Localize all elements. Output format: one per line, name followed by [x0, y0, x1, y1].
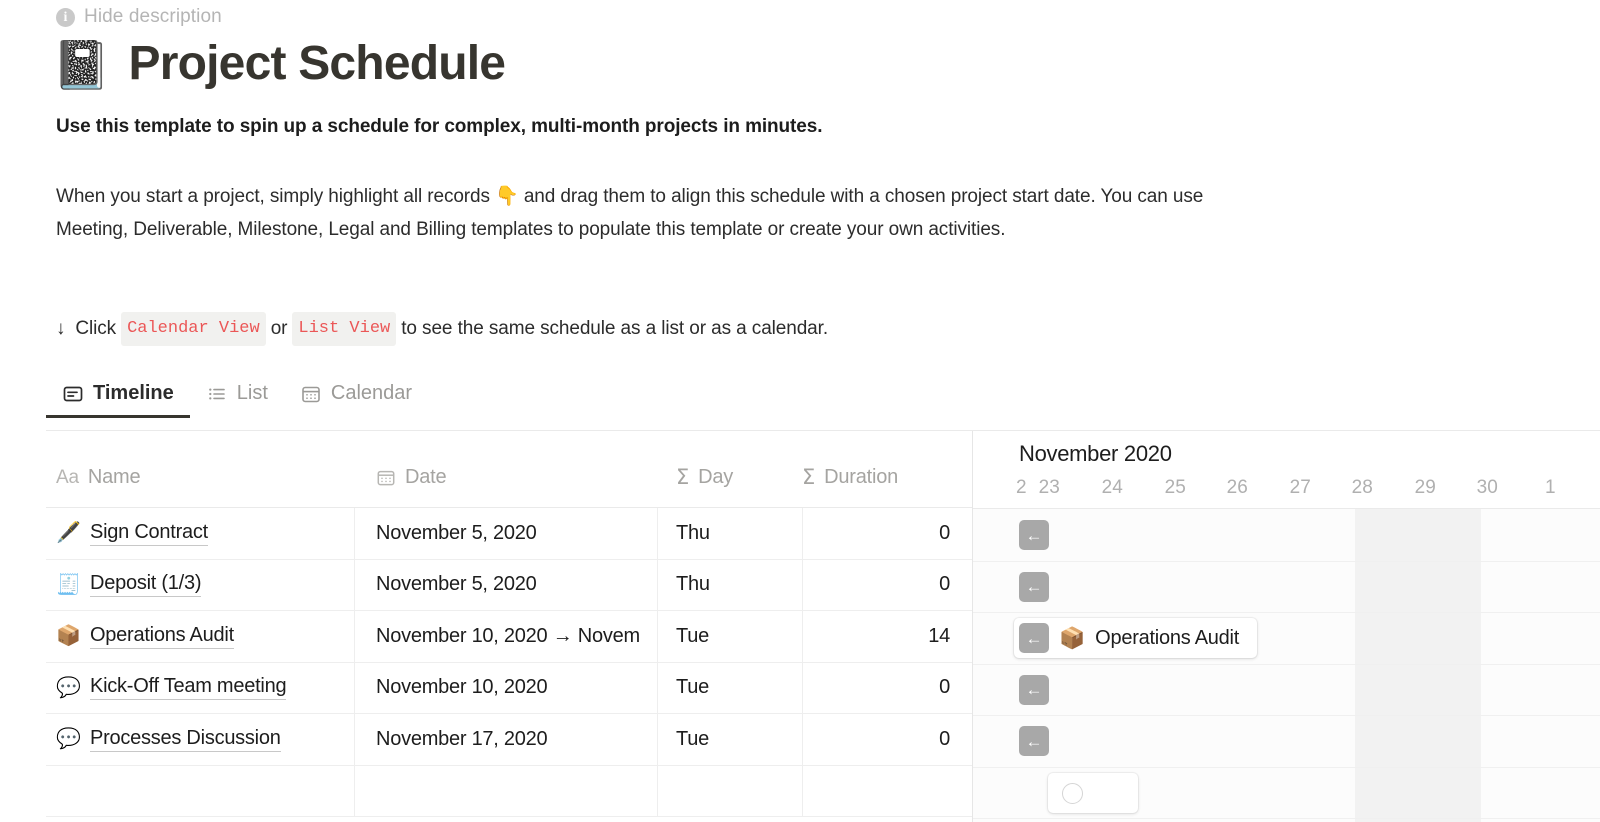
cell-duration-value: 0: [939, 573, 950, 596]
table-pane: Aa Name: [46, 431, 972, 822]
timeline-day-tick: 25: [1144, 477, 1207, 508]
cell-day[interactable]: Tue: [658, 663, 802, 714]
tab-calendar[interactable]: Calendar: [284, 382, 428, 418]
cell-date[interactable]: November 5, 2020: [355, 508, 658, 559]
row-name-link[interactable]: Kick-Off Team meeting: [90, 675, 286, 700]
cell-day[interactable]: [658, 766, 802, 817]
calendar-icon: [376, 468, 396, 488]
info-icon: i: [56, 8, 75, 27]
scroll-left-handle-icon[interactable]: ←: [1019, 572, 1049, 602]
cell-date[interactable]: November 17, 2020: [355, 714, 658, 765]
cell-date-value: November 5, 2020: [376, 573, 537, 596]
timeline-bar[interactable]: ←: [1014, 670, 1049, 710]
column-header-date[interactable]: Date: [355, 466, 658, 507]
page-subtitle: Use this template to spin up a schedule …: [56, 116, 1456, 138]
cell-name[interactable]: 💬 Processes Discussion: [46, 714, 355, 765]
arrow-down-icon: ↓: [56, 314, 65, 344]
scroll-left-handle-icon[interactable]: ←: [1019, 675, 1049, 705]
view-tabs: Timeline List: [46, 382, 428, 418]
column-header-name[interactable]: Aa Name: [46, 466, 355, 507]
cell-day-value: Tue: [676, 676, 709, 699]
cell-date[interactable]: November 10, 2020 → Novem: [355, 611, 658, 662]
cell-duration[interactable]: 0: [802, 560, 972, 611]
timeline-row-divider: [973, 715, 1600, 716]
cell-date[interactable]: [355, 766, 658, 817]
speech-balloon-icon: 💬: [56, 729, 80, 749]
cell-name[interactable]: 📦 Operations Audit: [46, 611, 355, 662]
click-word: Click: [75, 314, 116, 344]
description-part1: When you start a project, simply highlig…: [56, 186, 495, 207]
chip-list-view[interactable]: List View: [292, 312, 396, 346]
circle-icon: [1062, 783, 1083, 804]
package-icon: 📦: [1059, 628, 1085, 649]
cell-day[interactable]: Thu: [658, 560, 802, 611]
click-instruction-line: ↓ Click Calendar View or List View to se…: [56, 312, 1356, 346]
timeline-icon: [62, 383, 84, 405]
cell-duration[interactable]: 0: [802, 714, 972, 765]
cell-day-value: Thu: [676, 573, 710, 596]
timeline-pane[interactable]: November 2020 2 23 24 25 26 27 28 29 30 …: [972, 431, 1600, 822]
table-row[interactable]: 💬 Processes Discussion November 17, 2020…: [46, 714, 972, 766]
cell-date-value: November 10, 2020 → Novem: [376, 625, 640, 648]
cell-name[interactable]: [46, 766, 355, 817]
timeline-day-tick: 23: [1018, 477, 1081, 508]
sigma-icon: Σ: [802, 465, 815, 489]
scroll-left-handle-icon[interactable]: ←: [1019, 726, 1049, 756]
column-header-day-label: Day: [698, 466, 733, 489]
timeline-row-divider: [973, 818, 1600, 819]
description-paragraph: When you start a project, simply highlig…: [56, 180, 1256, 246]
cell-name[interactable]: 💬 Kick-Off Team meeting: [46, 663, 355, 714]
timeline-row-divider: [973, 612, 1600, 613]
table-header-row: Aa Name: [46, 431, 972, 508]
tab-calendar-label: Calendar: [331, 382, 412, 405]
timeline-bar[interactable]: ←: [1014, 721, 1049, 761]
click-or: or: [271, 314, 288, 344]
chip-calendar-view[interactable]: Calendar View: [121, 312, 266, 346]
timeline-day-ruler: 2 23 24 25 26 27 28 29 30 1: [973, 477, 1600, 508]
cell-day[interactable]: Thu: [658, 508, 802, 559]
timeline-day-tick: 29: [1394, 477, 1457, 508]
timeline-day-tick: 27: [1269, 477, 1332, 508]
speech-balloon-icon: 💬: [56, 678, 80, 698]
cell-date-value: November 17, 2020: [376, 728, 547, 751]
page-root: i Hide description 📓 Project Schedule Us…: [0, 0, 1600, 822]
calendar-icon: [300, 383, 322, 405]
row-name-link[interactable]: Sign Contract: [90, 521, 208, 546]
cell-day-value: Tue: [676, 728, 709, 751]
cell-day[interactable]: Tue: [658, 714, 802, 765]
table-row[interactable]: 📦 Operations Audit November 10, 2020 → N…: [46, 611, 972, 663]
row-name-link[interactable]: Processes Discussion: [90, 727, 281, 752]
row-name-link[interactable]: Operations Audit: [90, 624, 234, 649]
column-header-day[interactable]: Σ Day: [658, 465, 802, 507]
cell-day-value: Thu: [676, 522, 710, 545]
sigma-icon: Σ: [676, 465, 689, 489]
table-row[interactable]: 🖋️ Sign Contract November 5, 2020 Thu 0: [46, 508, 972, 560]
receipt-icon: 🧾: [56, 575, 80, 595]
aa-text-icon: Aa: [56, 467, 79, 489]
scroll-left-handle-icon[interactable]: ←: [1019, 623, 1049, 653]
cell-duration-value: 0: [939, 728, 950, 751]
timeline-day-tick: 30: [1456, 477, 1519, 508]
page-title-row: 📓 Project Schedule: [52, 40, 505, 88]
pointer-down-icon: 👇: [495, 186, 519, 207]
cell-duration-value: 0: [939, 522, 950, 545]
cell-duration[interactable]: 14: [802, 611, 972, 662]
scroll-left-handle-icon[interactable]: ←: [1019, 520, 1049, 550]
cell-duration-value: 14: [928, 625, 950, 648]
timeline-grid: November 2020 2 23 24 25 26 27 28 29 30 …: [46, 431, 1600, 822]
hide-description-label: Hide description: [84, 6, 222, 28]
notepad-icon: 📓: [52, 41, 111, 88]
list-icon: [206, 383, 228, 405]
row-name-link[interactable]: Deposit (1/3): [90, 572, 201, 597]
cell-date[interactable]: November 10, 2020: [355, 663, 658, 714]
cell-date-value: November 5, 2020: [376, 522, 537, 545]
cell-day-value: Tue: [676, 625, 709, 648]
column-header-duration[interactable]: Σ Duration: [802, 465, 972, 507]
timeline-row-divider: [973, 561, 1600, 562]
timeline-day-tick: 24: [1081, 477, 1144, 508]
cell-duration-value: 0: [939, 676, 950, 699]
column-header-name-label: Name: [88, 466, 141, 489]
weekend-shading: [1355, 509, 1481, 822]
cell-date[interactable]: November 5, 2020: [355, 560, 658, 611]
timeline-bar-partial[interactable]: [1048, 773, 1138, 813]
timeline-bar[interactable]: ←: [1014, 515, 1049, 555]
pen-icon: 🖋️: [56, 523, 80, 543]
timeline-bar-operations-audit[interactable]: ← 📦 Operations Audit: [1014, 618, 1257, 658]
timeline-bar-label: Operations Audit: [1095, 627, 1239, 650]
cell-date-value: November 10, 2020: [376, 676, 547, 699]
cell-name[interactable]: 🧾 Deposit (1/3): [46, 560, 355, 611]
hide-description-toggle[interactable]: i Hide description: [56, 6, 222, 28]
tab-timeline-label: Timeline: [93, 382, 174, 405]
cell-duration[interactable]: 0: [802, 508, 972, 559]
cell-duration[interactable]: [802, 766, 972, 817]
column-header-date-label: Date: [405, 466, 446, 489]
timeline-day-tick: 1: [1519, 477, 1582, 508]
cell-day[interactable]: Tue: [658, 611, 802, 662]
tab-timeline[interactable]: Timeline: [46, 382, 190, 418]
table-row[interactable]: 🧾 Deposit (1/3) November 5, 2020 Thu 0: [46, 560, 972, 612]
tab-list[interactable]: List: [190, 382, 284, 418]
timeline-bar[interactable]: ←: [1014, 567, 1049, 607]
tab-list-label: List: [237, 382, 268, 405]
cell-duration[interactable]: 0: [802, 663, 972, 714]
timeline-canvas[interactable]: ← ← ← 📦 Operations Audit ← ←: [973, 508, 1600, 822]
table-row-partial[interactable]: [46, 766, 972, 818]
cell-name[interactable]: 🖋️ Sign Contract: [46, 508, 355, 559]
column-header-duration-label: Duration: [824, 466, 898, 489]
timeline-row-divider: [973, 767, 1600, 768]
timeline-month-label: November 2020: [973, 431, 1600, 477]
page-title: Project Schedule: [129, 40, 506, 88]
timeline-day-tick: 26: [1206, 477, 1269, 508]
click-tail: to see the same schedule as a list or as…: [401, 314, 828, 344]
timeline-row-divider: [973, 664, 1600, 665]
timeline-day-tick: 28: [1331, 477, 1394, 508]
table-row[interactable]: 💬 Kick-Off Team meeting November 10, 202…: [46, 663, 972, 715]
package-icon: 📦: [56, 626, 80, 646]
